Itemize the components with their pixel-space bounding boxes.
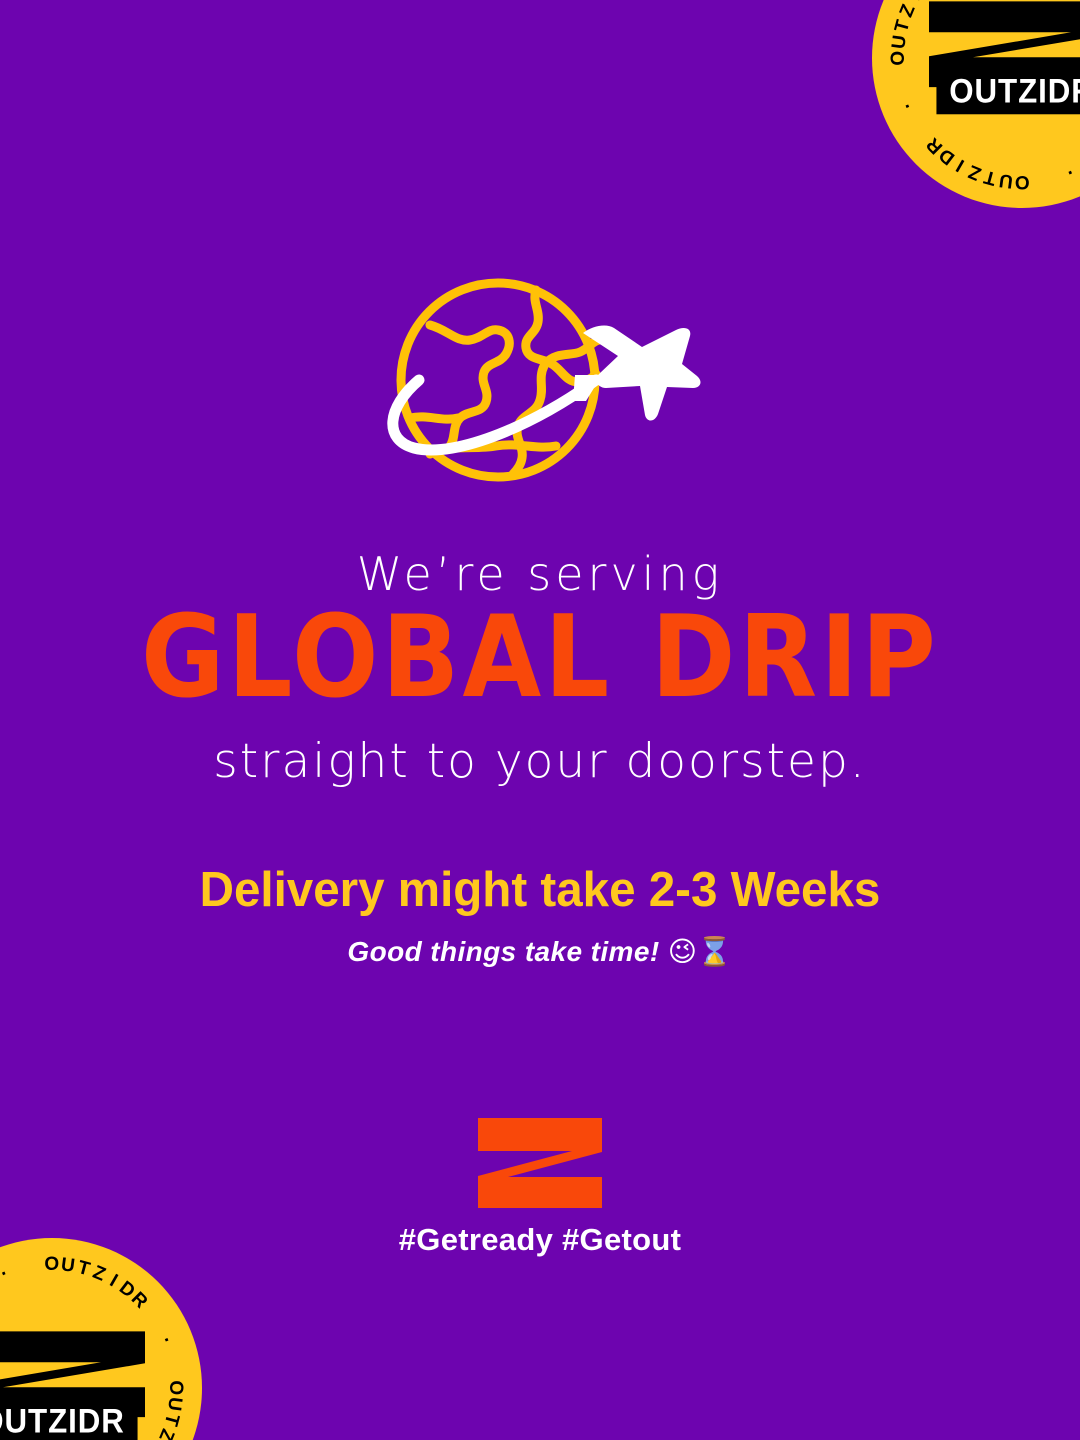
seal-core-bottom-left: OUTZIDR: [0, 1331, 145, 1440]
seal-wordmark: OUTZIDR: [0, 1401, 138, 1440]
doorstep-line: straight to your doorstep.: [0, 734, 1080, 790]
globe-airplane-icon: [370, 268, 710, 498]
hero-artwork: [0, 268, 1080, 498]
delivery-estimate: Delivery might take 2-3 Weeks: [16, 861, 1064, 920]
headline: GLOBAL DRIP: [0, 598, 1080, 717]
promo-poster: We’re serving GLOBAL DRIP straight to yo…: [0, 0, 1080, 1440]
copy-block: We’re serving GLOBAL DRIP straight to yo…: [0, 548, 1080, 969]
delivery-note: Good things take time! 😉⌛: [0, 935, 1080, 969]
wink-hourglass-emoji: 😉⌛: [668, 935, 733, 968]
delivery-note-text: Good things take time!: [347, 936, 659, 967]
seal-badge-top-right: OUTZIDR·OUTZIDR·OUTZIDR·OUTZIDR· OUTZIDR: [872, 0, 1080, 208]
seal-badge-bottom-left: OUTZIDR·OUTZIDR·OUTZIDR·OUTZIDR· OUTZIDR: [0, 1238, 202, 1440]
footer-brand: #Getready #Getout: [0, 1118, 1080, 1258]
seal-core-top-right: OUTZIDR: [929, 1, 1080, 114]
seal-wordmark: OUTZIDR: [936, 71, 1080, 114]
z-logo-icon: [478, 1118, 602, 1208]
